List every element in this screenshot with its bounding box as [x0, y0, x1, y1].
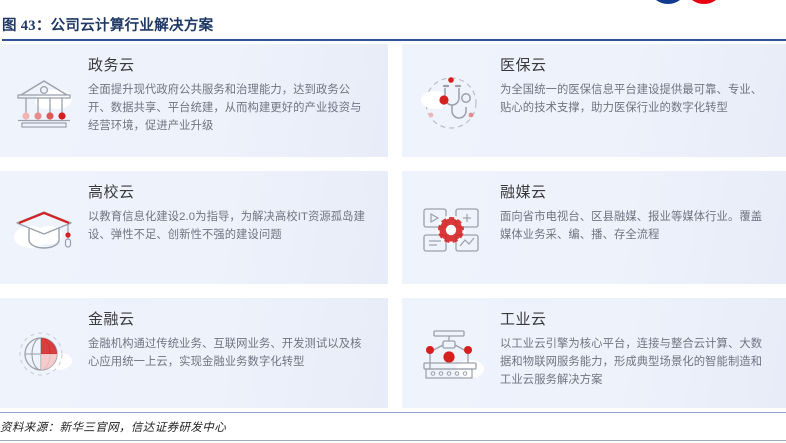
page-bottom-divider [0, 440, 786, 441]
card-text-block: 高校云 以教育信息化建设2.0为指导，为解决高校IT资源孤岛建设、弹性不足、创新… [88, 171, 384, 244]
figure-title: 图 43：公司云计算行业解决方案 [2, 14, 786, 35]
card-description: 面向省市电视台、区县融媒、报业等媒体行业。覆盖媒体业务采、编、播、存全流程 [500, 208, 768, 245]
stethoscope-cloud-icon [402, 44, 500, 157]
source-note: 资料来源：新华三官网，信达证券研发中心 [0, 413, 786, 435]
card-title: 高校云 [88, 185, 366, 202]
factory-robot-cloud-icon [402, 298, 500, 408]
title-divider [2, 39, 786, 41]
solution-card-finance-cloud[interactable]: 金融云 金融机构通过传统业务、互联网业务、开发测试以及核心应用统一上云，实现金融… [0, 298, 388, 408]
card-text-block: 金融云 金融机构通过传统业务、互联网业务、开发测试以及核心应用统一上云，实现金融… [88, 298, 384, 371]
solution-card-grid: 政务云 全面提升现代政府公共服务和治理能力，达到政务公开、数据共享、平台统建，从… [0, 44, 786, 408]
solution-card-industrial-cloud[interactable]: 工业云 以工业云引擎为核心平台，连接与整合云计算、大数据和物联网服务能力，形成典… [402, 298, 786, 408]
card-title: 工业云 [500, 312, 768, 329]
globe-cloud-icon [0, 298, 88, 408]
card-title: 医保云 [500, 58, 768, 75]
card-title: 融媒云 [500, 185, 768, 202]
card-text-block: 工业云 以工业云引擎为核心平台，连接与整合云计算、大数据和物联网服务能力，形成典… [500, 298, 786, 389]
media-gear-cloud-icon [402, 171, 500, 284]
government-building-cloud-icon [0, 44, 88, 157]
solution-card-media-convergence-cloud[interactable]: 融媒云 面向省市电视台、区县融媒、报业等媒体行业。覆盖媒体业务采、编、播、存全流… [402, 171, 786, 284]
solution-card-university-cloud[interactable]: 高校云 以教育信息化建设2.0为指导，为解决高校IT资源孤岛建设、弹性不足、创新… [0, 171, 388, 284]
card-description: 为全国统一的医保信息平台建设提供最可靠、专业、贴心的技术支撑，助力医保行业的数字… [500, 81, 768, 118]
card-title: 金融云 [88, 312, 366, 329]
card-description: 全面提升现代政府公共服务和治理能力，达到政务公开、数据共享、平台统建，从而构建更… [88, 81, 366, 136]
card-description: 以工业云引擎为核心平台，连接与整合云计算、大数据和物联网服务能力，形成典型场景化… [500, 335, 768, 390]
figure-header: 图 43：公司云计算行业解决方案 [0, 0, 786, 45]
graduation-cap-cloud-icon [0, 171, 88, 284]
brand-logo [648, 0, 718, 4]
card-description: 以教育信息化建设2.0为指导，为解决高校IT资源孤岛建设、弹性不足、创新性不强的… [88, 208, 366, 245]
card-text-block: 融媒云 面向省市电视台、区县融媒、报业等媒体行业。覆盖媒体业务采、编、播、存全流… [500, 171, 786, 244]
card-text-block: 医保云 为全国统一的医保信息平台建设提供最可靠、专业、贴心的技术支撑，助力医保行… [500, 44, 786, 117]
card-text-block: 政务云 全面提升现代政府公共服务和治理能力，达到政务公开、数据共享、平台统建，从… [88, 44, 384, 135]
logo-blue-arc [648, 0, 688, 4]
logo-red-arc [684, 0, 718, 4]
solution-card-medical-insurance-cloud[interactable]: 医保云 为全国统一的医保信息平台建设提供最可靠、专业、贴心的技术支撑，助力医保行… [402, 44, 786, 157]
figure-footer: 资料来源：新华三官网，信达证券研发中心 [0, 412, 786, 435]
solution-card-government-cloud[interactable]: 政务云 全面提升现代政府公共服务和治理能力，达到政务公开、数据共享、平台统建，从… [0, 44, 388, 157]
card-title: 政务云 [88, 58, 366, 75]
card-description: 金融机构通过传统业务、互联网业务、开发测试以及核心应用统一上云，实现金融业务数字… [88, 335, 366, 372]
